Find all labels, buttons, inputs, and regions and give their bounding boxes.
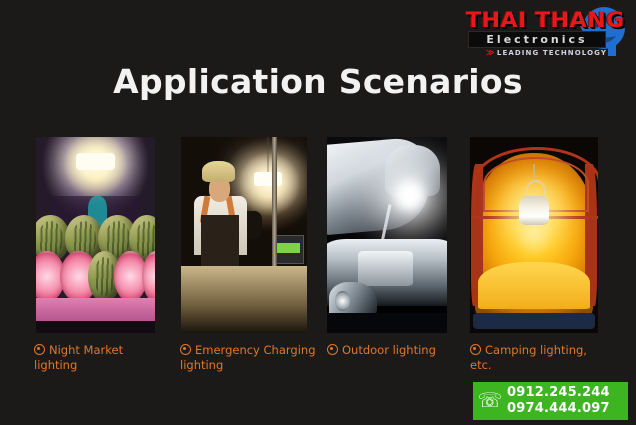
scenario-image-camping xyxy=(470,137,598,333)
radio-bullet-icon xyxy=(470,344,481,355)
logo-company-name: THAI THANG xyxy=(466,8,613,32)
scenario-image-outdoor xyxy=(327,137,447,333)
radio-bullet-icon xyxy=(180,344,191,355)
scenario-captions: Night Market lighting Emergency Charging… xyxy=(0,343,636,387)
caption-emergency-charging: Emergency Charging lighting xyxy=(180,343,320,373)
scenario-panels xyxy=(0,137,636,333)
phone-number-primary: 0912.245.244 xyxy=(507,385,610,401)
radio-bullet-icon xyxy=(327,344,338,355)
scenario-image-emergency-charging xyxy=(181,137,307,333)
camping-lantern-icon xyxy=(519,196,550,225)
application-scenarios-banner: THAI THANG Electronics ≫ LEADING TECHNOL… xyxy=(0,0,636,425)
radio-bullet-icon xyxy=(34,344,45,355)
led-bulb-icon xyxy=(76,153,114,171)
caption-text: Emergency Charging lighting xyxy=(180,343,316,372)
rechargeable-lamp-icon xyxy=(254,172,282,186)
caption-outdoor: Outdoor lighting xyxy=(327,343,457,358)
page-title: Application Scenarios xyxy=(0,62,636,101)
phone-icon: ☏ xyxy=(473,382,507,420)
brand-logo[interactable]: THAI THANG Electronics ≫ LEADING TECHNOL… xyxy=(460,2,630,60)
caption-text: Outdoor lighting xyxy=(342,343,436,357)
contact-phone-numbers: 0912.245.244 0974.444.097 xyxy=(507,385,610,417)
caption-text: Camping lighting, etc. xyxy=(470,343,587,372)
caption-night-market: Night Market lighting xyxy=(34,343,164,373)
chevron-right-icon: ≫ xyxy=(486,48,493,57)
logo-tagline: ≫ LEADING TECHNOLOGY xyxy=(486,48,607,57)
caption-text: Night Market lighting xyxy=(34,343,123,372)
logo-subtitle: Electronics xyxy=(468,31,606,48)
phone-number-secondary: 0974.444.097 xyxy=(507,401,610,417)
caption-camping: Camping lighting, etc. xyxy=(470,343,595,373)
scenario-image-night-market xyxy=(36,137,155,333)
logo-tagline-text: LEADING TECHNOLOGY xyxy=(497,49,607,57)
contact-phone-badge[interactable]: ☏ 0912.245.244 0974.444.097 xyxy=(473,382,628,420)
